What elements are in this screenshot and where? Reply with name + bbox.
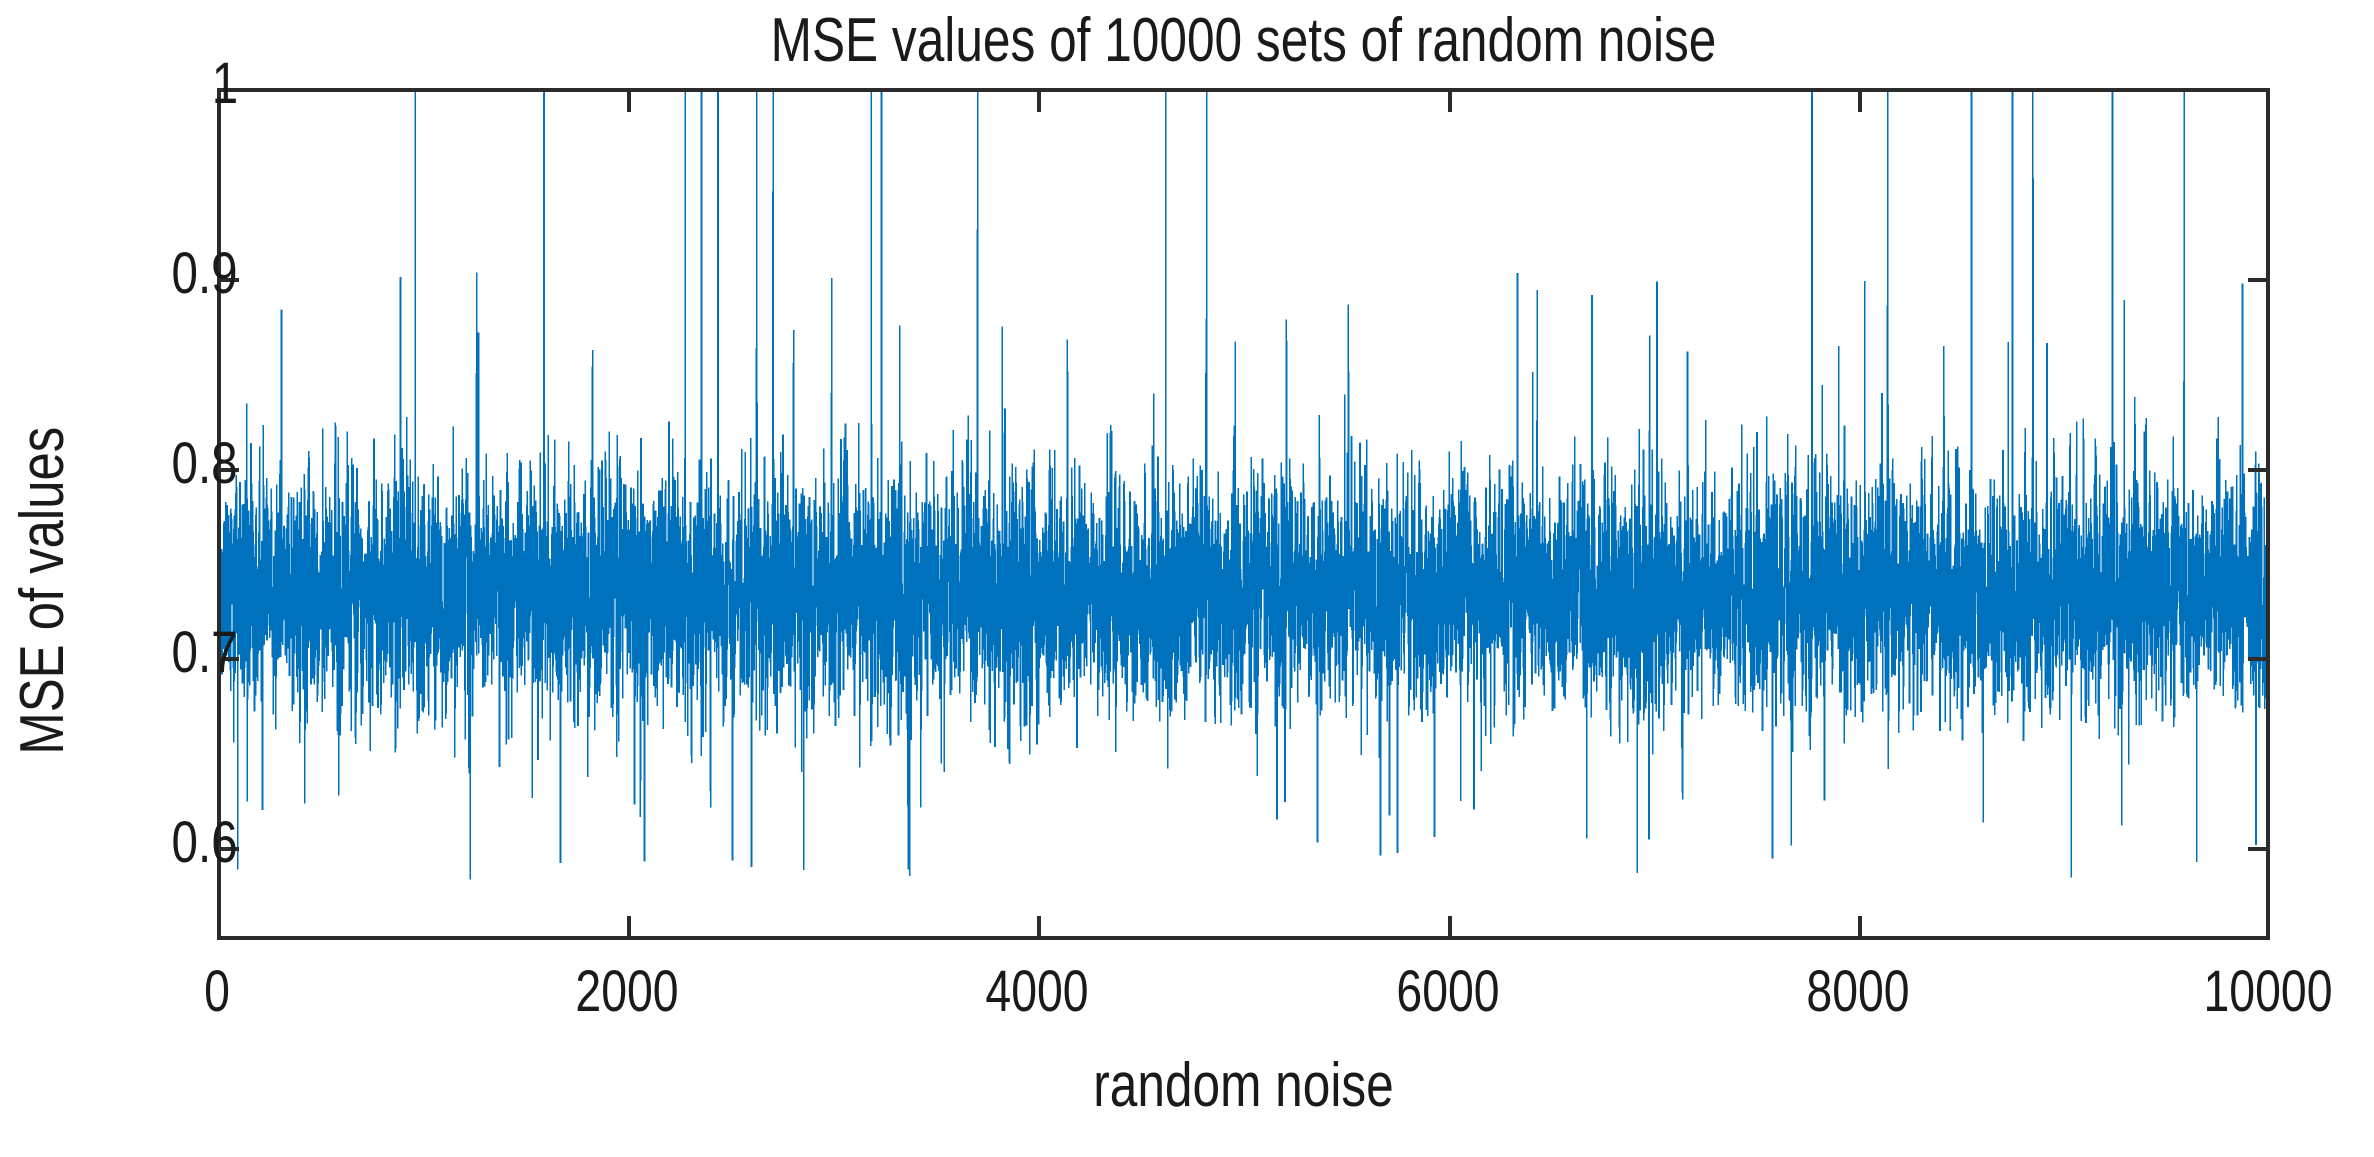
ytick-mark-right-0.9 bbox=[2248, 278, 2270, 282]
xtick-label-10000: 10000 bbox=[2203, 958, 2332, 1025]
ytick-label-0.6: 0.6 bbox=[172, 809, 238, 876]
xtick-mark-top-6000 bbox=[1448, 88, 1452, 112]
ytick-label-0.9: 0.9 bbox=[172, 240, 238, 307]
xtick-mark-top-2000 bbox=[627, 88, 631, 112]
xtick-label-4000: 4000 bbox=[985, 958, 1088, 1025]
xtick-mark-4000 bbox=[1037, 916, 1041, 940]
ytick-mark-right-0.7 bbox=[2248, 657, 2270, 661]
xtick-mark-8000 bbox=[1858, 916, 1862, 940]
ytick-label-0.7: 0.7 bbox=[172, 619, 238, 686]
ytick-mark-right-0.6 bbox=[2248, 847, 2270, 851]
xtick-label-2000: 2000 bbox=[575, 958, 678, 1025]
ytick-label-1: 1 bbox=[212, 50, 238, 117]
xtick-mark-6000 bbox=[1448, 916, 1452, 940]
ytick-mark-right-0.8 bbox=[2248, 468, 2270, 472]
chart-title: MSE values of 10000 sets of random noise bbox=[422, 2, 2064, 80]
xtick-label-8000: 8000 bbox=[1806, 958, 1909, 1025]
xtick-mark-top-8000 bbox=[1858, 88, 1862, 112]
xtick-label-6000: 6000 bbox=[1396, 958, 1499, 1025]
figure-canvas: MSE values of 10000 sets of random noise… bbox=[0, 0, 2374, 1157]
plot-area bbox=[217, 88, 2270, 940]
ytick-label-0.8: 0.8 bbox=[172, 430, 238, 497]
noise-series-line bbox=[221, 92, 2266, 936]
xtick-mark-2000 bbox=[627, 916, 631, 940]
y-axis-label: MSE of values bbox=[8, 241, 78, 940]
x-axis-label: random noise bbox=[422, 1046, 2064, 1126]
xtick-label-0: 0 bbox=[204, 958, 230, 1025]
xtick-mark-top-4000 bbox=[1037, 88, 1041, 112]
